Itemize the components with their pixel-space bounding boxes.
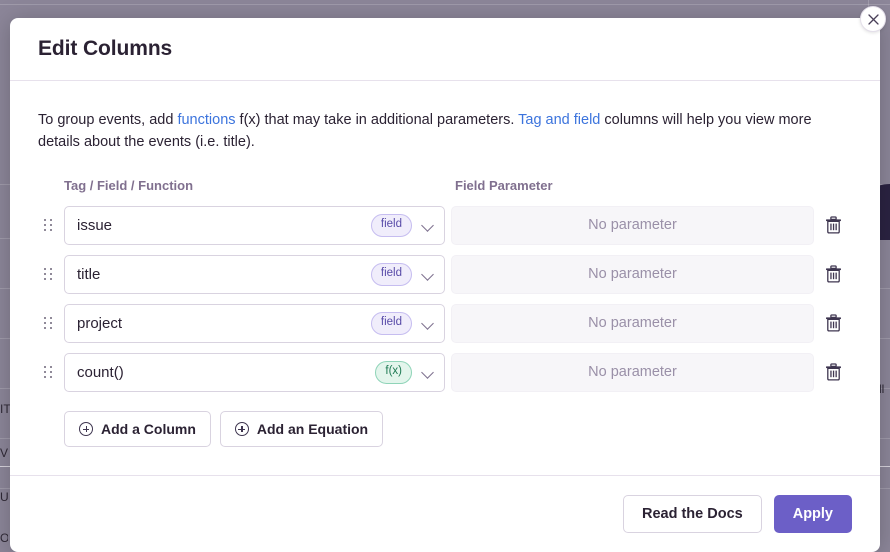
- tag-and-field-link[interactable]: Tag and field: [518, 112, 600, 128]
- intro-text-part1: To group events, add: [38, 112, 177, 128]
- field-parameter-0: No parameter: [451, 206, 814, 245]
- intro-description: To group events, add functions f(x) that…: [38, 109, 848, 154]
- plus-circle-icon: [235, 422, 249, 436]
- drag-handle-icon[interactable]: [38, 268, 64, 280]
- functions-link[interactable]: functions: [177, 112, 235, 128]
- add-equation-label: Add an Equation: [257, 421, 368, 437]
- column-select-2[interactable]: project field: [64, 304, 445, 343]
- field-parameter-2: No parameter: [451, 304, 814, 343]
- edit-columns-modal: Edit Columns To group events, add functi…: [10, 18, 880, 552]
- header-field-parameter: Field Parameter: [455, 178, 852, 193]
- column-select-value: count(): [77, 364, 375, 381]
- chevron-down-icon: [420, 364, 436, 380]
- add-column-button[interactable]: Add a Column: [64, 411, 211, 447]
- column-select-value: issue: [77, 217, 371, 234]
- plus-circle-icon: [79, 422, 93, 436]
- read-the-docs-button[interactable]: Read the Docs: [623, 495, 762, 533]
- modal-footer: Read the Docs Apply: [10, 475, 880, 552]
- chevron-down-icon: [420, 315, 436, 331]
- backdrop-rule: [0, 4, 890, 5]
- status-badge: field: [371, 312, 412, 335]
- delete-column-button-3[interactable]: [814, 353, 852, 392]
- table-row: issue field No parameter: [38, 201, 852, 250]
- backdrop-text-fragment: U: [0, 490, 8, 504]
- add-actions: Add a Column Add an Equation: [38, 411, 852, 447]
- drag-handle-icon[interactable]: [38, 317, 64, 329]
- table-row: project field No parameter: [38, 299, 852, 348]
- status-badge: field: [371, 263, 412, 286]
- trash-icon: [825, 216, 842, 234]
- trash-icon: [825, 363, 842, 381]
- column-select-3[interactable]: count() f(x): [64, 353, 445, 392]
- delete-column-button-2[interactable]: [814, 304, 852, 343]
- page-title: Edit Columns: [38, 37, 172, 61]
- status-badge: f(x): [375, 361, 412, 384]
- drag-handle-icon[interactable]: [38, 366, 64, 378]
- table-row: count() f(x) No parameter: [38, 348, 852, 397]
- backdrop-rule: [880, 466, 890, 467]
- chevron-down-icon: [420, 217, 436, 233]
- field-parameter-3: No parameter: [451, 353, 814, 392]
- delete-column-button-1[interactable]: [814, 255, 852, 294]
- apply-button[interactable]: Apply: [774, 495, 852, 533]
- drag-handle-icon[interactable]: [38, 219, 64, 231]
- table-row: title field No parameter: [38, 250, 852, 299]
- column-select-1[interactable]: title field: [64, 255, 445, 294]
- close-icon: [868, 14, 879, 25]
- delete-column-button-0[interactable]: [814, 206, 852, 245]
- modal-body: To group events, add functions f(x) that…: [10, 81, 880, 475]
- field-parameter-1: No parameter: [451, 255, 814, 294]
- backdrop-rule: [0, 466, 10, 467]
- modal-header: Edit Columns: [10, 18, 880, 81]
- close-button[interactable]: [860, 6, 886, 32]
- column-select-value: title: [77, 266, 371, 283]
- header-tag-field-function: Tag / Field / Function: [64, 178, 455, 193]
- column-select-0[interactable]: issue field: [64, 206, 445, 245]
- intro-text-part2: f(x) that may take in additional paramet…: [236, 112, 519, 128]
- trash-icon: [825, 265, 842, 283]
- column-select-value: project: [77, 315, 371, 332]
- add-column-label: Add a Column: [101, 421, 196, 437]
- status-badge: field: [371, 214, 412, 237]
- backdrop-text-fragment: IT: [0, 402, 10, 416]
- column-rows-list: issue field No parameter: [38, 201, 852, 397]
- backdrop-text-fragment: V: [0, 446, 8, 460]
- chevron-down-icon: [420, 266, 436, 282]
- backdrop-text-fragment: O: [0, 531, 8, 545]
- trash-icon: [825, 314, 842, 332]
- column-headers: Tag / Field / Function Field Parameter: [38, 178, 852, 193]
- add-equation-button[interactable]: Add an Equation: [220, 411, 383, 447]
